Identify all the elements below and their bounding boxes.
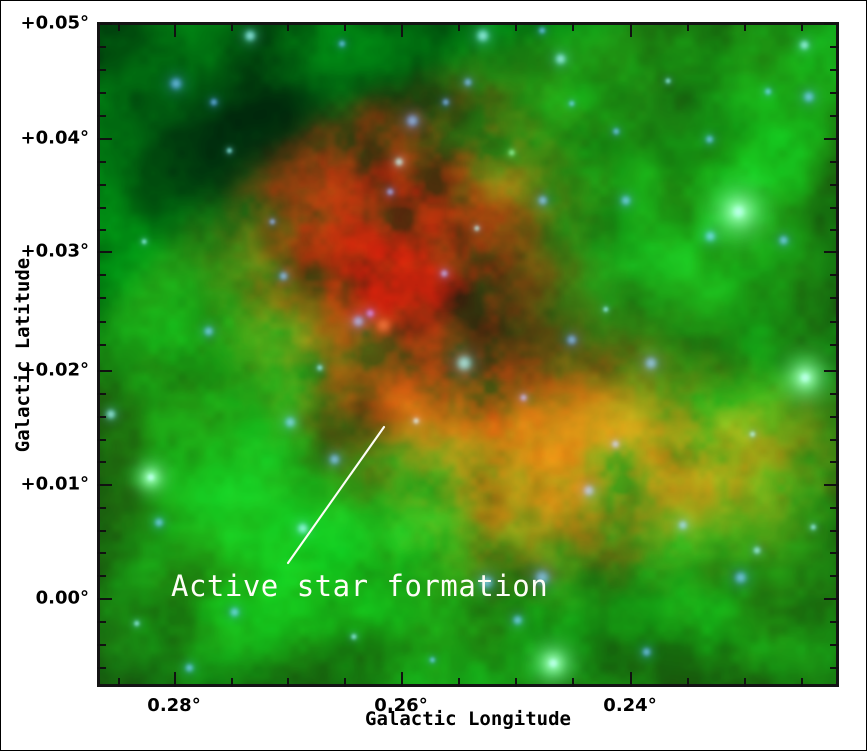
x-major-tick-top xyxy=(630,22,632,37)
y-minor-tick-right xyxy=(830,552,839,554)
y-minor-tick xyxy=(97,530,106,532)
y-minor-tick-right xyxy=(830,321,839,323)
x-minor-tick xyxy=(744,678,746,687)
annotation-active-star-formation: Active star formation xyxy=(171,569,548,603)
y-minor-tick xyxy=(97,667,106,669)
x-minor-tick-top xyxy=(687,22,689,31)
y-major-tick xyxy=(97,484,112,486)
x-minor-tick xyxy=(231,678,233,687)
x-minor-tick-top xyxy=(458,22,460,31)
y-minor-tick-right xyxy=(830,274,839,276)
x-tick-label: 0.24° xyxy=(603,695,656,716)
x-minor-tick xyxy=(118,678,120,687)
x-minor-tick xyxy=(458,678,460,687)
y-minor-tick xyxy=(97,297,106,299)
y-major-tick xyxy=(97,370,112,372)
x-major-tick xyxy=(174,672,176,687)
y-minor-tick-right xyxy=(830,644,839,646)
x-minor-tick-top xyxy=(344,22,346,31)
y-minor-tick xyxy=(97,439,106,441)
y-minor-tick-right xyxy=(830,229,839,231)
y-minor-tick xyxy=(97,461,106,463)
y-minor-tick-right xyxy=(830,92,839,94)
y-minor-tick-right xyxy=(830,667,839,669)
y-major-tick-right xyxy=(824,484,839,486)
x-tick-label: 0.28° xyxy=(147,695,200,716)
y-minor-tick xyxy=(97,507,106,509)
y-minor-tick xyxy=(97,161,106,163)
x-minor-tick xyxy=(572,678,574,687)
y-tick-label: +0.05° xyxy=(21,13,90,34)
y-tick-label: +0.01° xyxy=(21,474,90,495)
y-minor-tick-right xyxy=(830,393,839,395)
y-minor-tick xyxy=(97,184,106,186)
y-minor-tick xyxy=(97,46,106,48)
x-minor-tick-top xyxy=(118,22,120,31)
y-minor-tick-right xyxy=(830,115,839,117)
x-minor-tick-top xyxy=(287,22,289,31)
y-minor-tick-right xyxy=(830,461,839,463)
x-minor-tick-top xyxy=(572,22,574,31)
y-minor-tick xyxy=(97,274,106,276)
y-minor-tick-right xyxy=(830,575,839,577)
y-minor-tick-right xyxy=(830,297,839,299)
y-major-tick-right xyxy=(824,598,839,600)
x-major-tick-top xyxy=(174,22,176,37)
x-minor-tick-top xyxy=(801,22,803,31)
y-major-tick-right xyxy=(824,251,839,253)
y-minor-tick xyxy=(97,644,106,646)
x-minor-tick xyxy=(344,678,346,687)
y-minor-tick-right xyxy=(830,184,839,186)
y-minor-tick xyxy=(97,69,106,71)
y-minor-tick-right xyxy=(830,439,839,441)
y-minor-tick-right xyxy=(830,416,839,418)
x-major-tick xyxy=(630,672,632,687)
y-minor-tick xyxy=(97,229,106,231)
y-minor-tick xyxy=(97,321,106,323)
x-minor-tick-top xyxy=(515,22,517,31)
x-minor-tick-top xyxy=(744,22,746,31)
y-major-tick xyxy=(97,138,112,140)
y-major-tick xyxy=(97,251,112,253)
y-minor-tick-right xyxy=(830,344,839,346)
y-minor-tick-right xyxy=(830,507,839,509)
y-axis-title: Galactic Latitude xyxy=(12,258,34,452)
y-tick-label: 0.00° xyxy=(36,588,89,609)
x-minor-tick xyxy=(287,678,289,687)
y-tick-label: +0.04° xyxy=(21,128,90,149)
y-minor-tick-right xyxy=(830,69,839,71)
x-minor-tick xyxy=(801,678,803,687)
x-axis-title: Galactic Longitude xyxy=(365,708,571,730)
y-minor-tick xyxy=(97,92,106,94)
x-minor-tick-top xyxy=(231,22,233,31)
y-minor-tick xyxy=(97,393,106,395)
y-minor-tick xyxy=(97,115,106,117)
y-minor-tick-right xyxy=(830,621,839,623)
y-minor-tick xyxy=(97,621,106,623)
figure-panel: Active star formation 0.28°0.26°0.24°+0.… xyxy=(0,0,867,751)
y-major-tick xyxy=(97,23,112,25)
x-minor-tick xyxy=(515,678,517,687)
y-minor-tick xyxy=(97,575,106,577)
y-major-tick-right xyxy=(824,370,839,372)
y-minor-tick xyxy=(97,416,106,418)
y-minor-tick xyxy=(97,552,106,554)
x-minor-tick xyxy=(687,678,689,687)
y-major-tick xyxy=(97,598,112,600)
y-minor-tick xyxy=(97,207,106,209)
x-major-tick xyxy=(401,672,403,687)
x-major-tick-top xyxy=(401,22,403,37)
y-major-tick-right xyxy=(824,23,839,25)
y-minor-tick xyxy=(97,344,106,346)
y-minor-tick-right xyxy=(830,530,839,532)
y-minor-tick-right xyxy=(830,207,839,209)
y-minor-tick-right xyxy=(830,161,839,163)
y-major-tick-right xyxy=(824,138,839,140)
y-minor-tick-right xyxy=(830,46,839,48)
